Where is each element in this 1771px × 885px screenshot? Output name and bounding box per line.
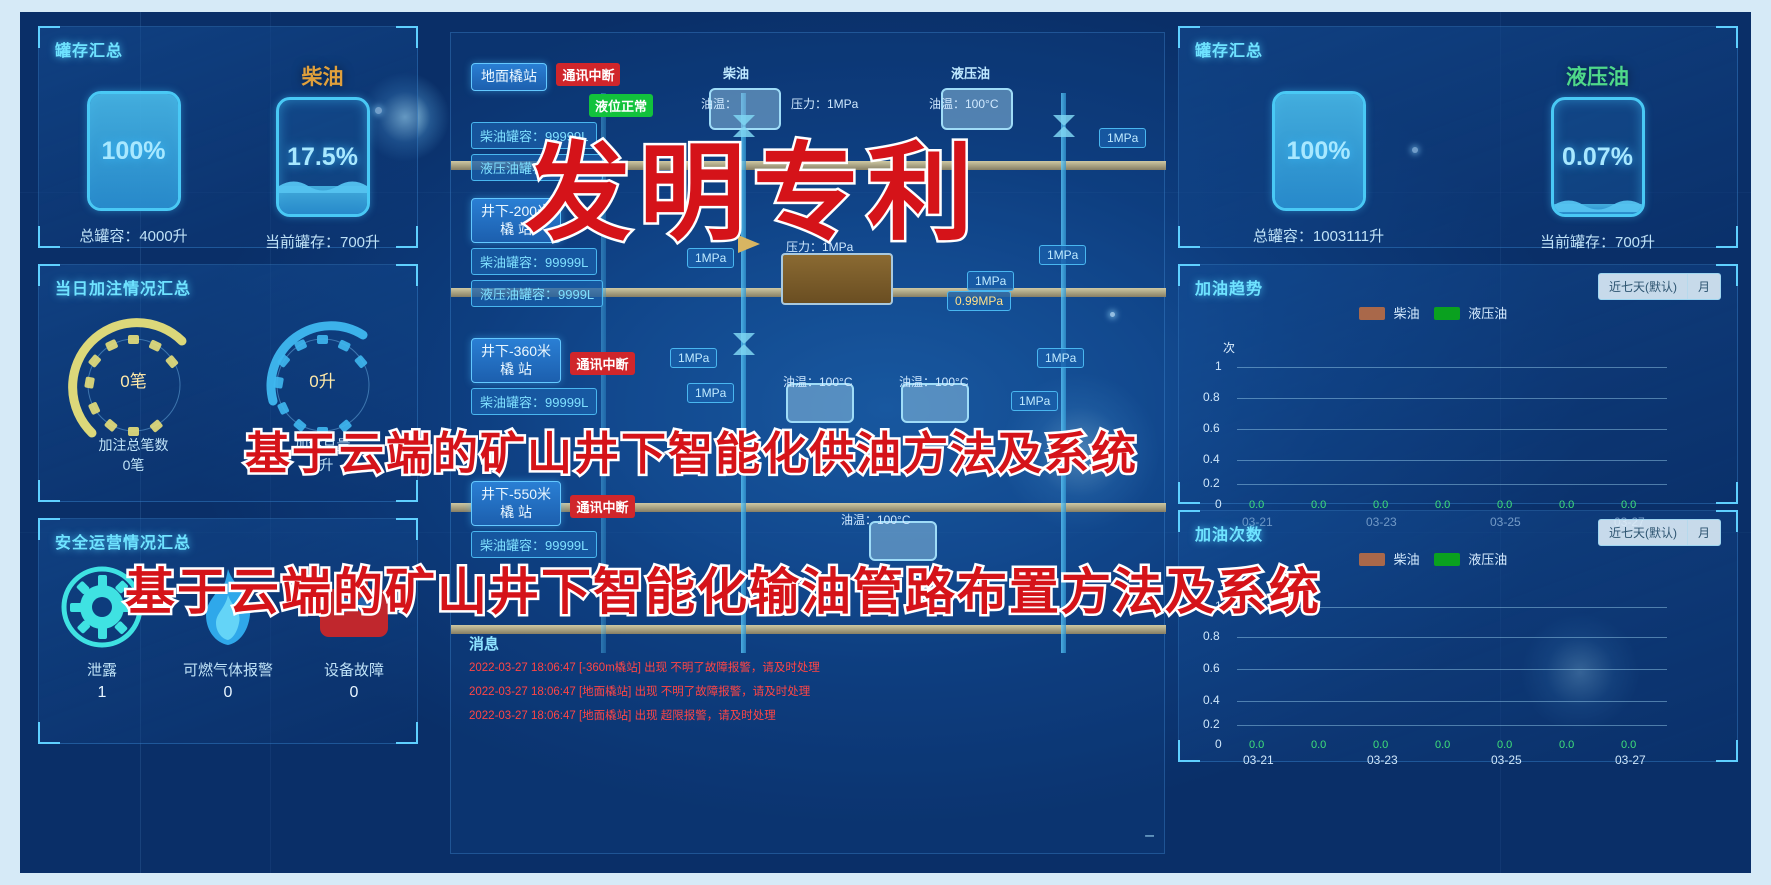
- minimize-icon[interactable]: –: [1145, 827, 1154, 845]
- gauge-value: 0笔: [39, 367, 228, 392]
- pressure-tag-low: 0.99MPa: [947, 291, 1011, 311]
- panel-title: 加油趋势: [1195, 275, 1263, 299]
- watermark-patent: 发明专利: [525, 107, 981, 261]
- range-option-week[interactable]: 近七天(默认): [1599, 520, 1688, 545]
- point-label: 0.0: [1621, 739, 1636, 751]
- tank-percent: 17.5%: [279, 100, 367, 214]
- message-item: 2022-03-27 18:06:47 [-360m橇站] 出现 不明了故障报警…: [469, 659, 820, 675]
- watermark-line-2: 基于云端的矿山井下智能化输油管路布置方法及系统: [125, 552, 1321, 624]
- gauge-item: 0笔: [39, 305, 228, 455]
- panel-title: 罐存汇总: [55, 37, 123, 61]
- tank-caption: 当前罐存：700升: [1540, 231, 1655, 252]
- station-name: 井下-550米 橇 站: [471, 481, 561, 526]
- station-550m[interactable]: 井下-550米 橇 站 通讯中断 柴油罐容：99999L: [471, 481, 635, 558]
- y-tick: 0.6: [1203, 661, 1220, 675]
- y-tick: 0: [1215, 497, 1222, 511]
- legend-item-hydraulic: 液压油: [1434, 303, 1508, 322]
- range-option-week[interactable]: 近七天(默认): [1599, 274, 1688, 299]
- safety-value: 1: [98, 684, 107, 702]
- tank-percent: 0.07%: [1554, 100, 1642, 214]
- tank-gauge: 100%: [87, 91, 181, 211]
- y-tick: 0.8: [1203, 390, 1220, 404]
- panel-title: 当日加注情况汇总: [55, 275, 191, 299]
- valve-icon: [1051, 113, 1077, 139]
- safety-value: 0: [350, 684, 359, 702]
- gauge-caption: 加注总笔数: [39, 435, 228, 455]
- y-tick: 0.6: [1203, 421, 1220, 435]
- status-badge-comm: 通讯中断: [570, 352, 634, 375]
- tank-percent: 100%: [1275, 94, 1363, 208]
- station-name: 井下-360米 橇 站: [471, 338, 561, 383]
- watermark-line-1: 基于云端的矿山井下智能化供油方法及系统: [245, 417, 1138, 482]
- x-tick: 03-25: [1491, 753, 1522, 767]
- station-name: 地面橇站: [471, 63, 547, 91]
- safety-label: 设备故障: [324, 659, 384, 680]
- pressure-tag: 1MPa: [967, 271, 1014, 291]
- pressure-tag: 1MPa: [1011, 391, 1058, 411]
- tank-item: x 100% 总罐容：1003111升: [1179, 61, 1458, 252]
- station-360m[interactable]: 井下-360米 橇 站 通讯中断 柴油罐容：99999L: [471, 338, 635, 415]
- pressure-tag: 1MPa: [1039, 245, 1086, 265]
- label-diesel: 柴油: [723, 63, 749, 82]
- pressure-tag: 1MPa: [670, 348, 717, 368]
- gauge-caption-value: 0笔: [39, 455, 228, 475]
- legend-swatch: [1359, 307, 1385, 320]
- valve-icon: [731, 331, 757, 357]
- status-badge-comm: 通讯中断: [570, 495, 634, 518]
- y-axis-unit: 次: [1223, 339, 1235, 356]
- y-tick: 0.4: [1203, 693, 1220, 707]
- pressure-tag: 1MPa: [1037, 348, 1084, 368]
- oil-type-label: 液压油: [1566, 61, 1629, 91]
- y-tick: 0.2: [1203, 476, 1220, 490]
- tank-item: x 100% 总罐容：4000升: [39, 61, 228, 252]
- y-tick: 0.8: [1203, 629, 1220, 643]
- safety-label: 可燃气体报警: [183, 659, 273, 680]
- y-tick: 1: [1215, 359, 1222, 373]
- tank-caption: 当前罐存：700升: [265, 231, 380, 252]
- station-tag-diesel: 柴油罐容：99999L: [471, 388, 597, 415]
- message-item: 2022-03-27 18:06:47 [地面橇站] 出现 不明了故障报警，请及…: [469, 683, 810, 699]
- message-item: 2022-03-27 18:06:47 [地面橇站] 出现 超限报警，请及时处理: [469, 707, 776, 723]
- tank-group: x 100% 总罐容：4000升 柴油: [39, 61, 417, 252]
- screenshot-root: 罐存汇总 x 100% 总罐容：4000升 柴油: [0, 0, 1771, 885]
- tank-percent: 100%: [90, 94, 178, 208]
- range-option-month[interactable]: 月: [1688, 274, 1720, 299]
- panel-refuel-trend: 加油趋势 近七天(默认) 月 柴油 液压油 次 1 0.8: [1178, 264, 1738, 504]
- legend-item-diesel: 柴油: [1359, 549, 1420, 568]
- tank-caption: 总罐容：1003111升: [1253, 225, 1384, 246]
- panel-title: 安全运营情况汇总: [55, 529, 191, 553]
- x-tick: 03-21: [1243, 753, 1274, 767]
- tank-gauge: 0.07%: [1551, 97, 1645, 217]
- x-tick: 03-27: [1615, 753, 1646, 767]
- chart-legend: 柴油 液压油: [1359, 549, 1507, 568]
- label-hydraulic: 液压油: [951, 63, 990, 82]
- legend-swatch: [1359, 553, 1385, 566]
- x-tick: 03-23: [1367, 753, 1398, 767]
- point-label: 0.0: [1311, 739, 1326, 751]
- tank-item: 液压油 0.07% 当前罐存：700升: [1458, 61, 1737, 252]
- panel-refuel-count: 加油次数 近七天(默认) 月 柴油 液压油 1 0.8 0.6: [1178, 510, 1738, 762]
- oil-temp-value: 油温：100°C: [899, 373, 969, 390]
- range-selector-count[interactable]: 近七天(默认) 月: [1598, 519, 1721, 546]
- point-label: 0.0: [1373, 739, 1388, 751]
- tank-gauge: 17.5%: [276, 97, 370, 217]
- y-tick: 0: [1215, 737, 1222, 751]
- range-option-month[interactable]: 月: [1688, 520, 1720, 545]
- range-selector-trend[interactable]: 近七天(默认) 月: [1598, 273, 1721, 300]
- legend-swatch: [1434, 553, 1460, 566]
- panel-title: 加油次数: [1195, 521, 1263, 545]
- pressure-tag: 1MPa: [1099, 128, 1146, 148]
- status-badge-comm: 通讯中断: [556, 63, 620, 86]
- pressure-tag: 1MPa: [687, 383, 734, 403]
- safety-value: 0: [224, 684, 233, 702]
- chart-legend: 柴油 液压油: [1359, 303, 1507, 322]
- oil-temp-value: 油温：100°C: [783, 373, 853, 390]
- panel-title: 罐存汇总: [1195, 37, 1263, 61]
- tank-gauge: 100%: [1272, 91, 1366, 211]
- tank-item: 柴油 17.5% 当前罐存：700升: [228, 61, 417, 252]
- legend-item-diesel: 柴油: [1359, 303, 1420, 322]
- tank-caption: 总罐容：4000升: [79, 225, 187, 246]
- y-tick: 0.2: [1203, 717, 1220, 731]
- tank-group: x 100% 总罐容：1003111升 液压油: [1179, 61, 1737, 252]
- y-tick: 0.4: [1203, 452, 1220, 466]
- point-label: 0.0: [1559, 739, 1574, 751]
- point-label: 0.0: [1249, 739, 1264, 751]
- point-label: 0.0: [1435, 739, 1450, 751]
- legend-swatch: [1434, 307, 1460, 320]
- panel-right-tank-summary: 罐存汇总 x 100% 总罐容：1003111升 液压油: [1178, 26, 1738, 248]
- messages-title: 消息: [469, 633, 499, 654]
- gauge-value: 0升: [228, 367, 417, 392]
- dashboard-screen: 罐存汇总 x 100% 总罐容：4000升 柴油: [20, 12, 1751, 873]
- station-tag-hydraulic: 液压油罐容：9999L: [471, 280, 603, 307]
- legend-item-hydraulic: 液压油: [1434, 549, 1508, 568]
- panel-left-tank-summary: 罐存汇总 x 100% 总罐容：4000升 柴油: [38, 26, 418, 248]
- oil-type-label: 柴油: [302, 61, 344, 91]
- point-label: 0.0: [1497, 739, 1512, 751]
- safety-label: 泄露: [87, 659, 117, 680]
- oil-temp-value: 油温：100°C: [841, 511, 911, 528]
